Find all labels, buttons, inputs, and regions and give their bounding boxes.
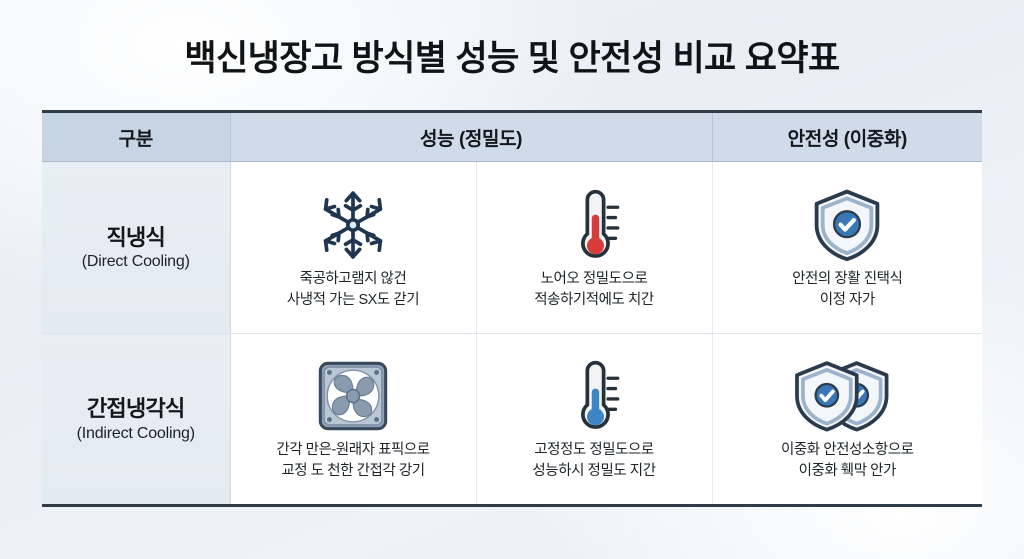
cell-indirect-performance-precision: 고정정도 정밀도으로 성능하시 정밀도 지간 [476,334,712,506]
title-area: 백신냉장고 방식별 성능 및 안전성 비교 요약표 [0,30,1024,81]
comparison-table-wrapper: 구분 성능 (정밀도) 안전성 (이중화) 직냉식 (Direct Coolin… [42,110,982,507]
cell-caption: 간각 만은-원래자 표픽으로 교정 도 천한 간접각 강기 [241,440,466,481]
comparison-table: 구분 성능 (정밀도) 안전성 (이중화) 직냉식 (Direct Coolin… [42,110,982,507]
column-header-performance: 성능 (정밀도) [230,112,712,162]
page-title: 백신냉장고 방식별 성능 및 안전성 비교 요약표 [0,30,1024,81]
cell-caption: 죽공하고램지 않건 사냉적 가는 SX도 갇기 [241,269,466,310]
fan-icon [241,358,466,434]
row-label-ko: 직냉식 [48,224,224,252]
table-body: 직냉식 (Direct Cooling) [42,162,982,506]
cell-direct-safety: 안전의 장활 진택식 이정 자가 [712,162,982,334]
shield-check-icon [723,187,973,263]
cell-indirect-safety: 이중화 안전성소항으로 이중화 훽막 안가 [712,334,982,506]
header-row: 구분 성능 (정밀도) 안전성 (이중화) [42,112,982,162]
cell-direct-performance-cooling: 죽공하고램지 않건 사냉적 가는 SX도 갇기 [230,162,476,334]
cell-caption: 안전의 장활 진택식 이정 자가 [723,269,973,310]
cell-indirect-performance-fan: 간각 만은-원래자 표픽으로 교정 도 천한 간접각 강기 [230,334,476,506]
slide-canvas: 백신냉장고 방식별 성능 및 안전성 비교 요약표 구분 성능 (정밀도) 안전… [0,0,1024,559]
cell-caption: 이중화 안전성소항으로 이중화 훽막 안가 [723,440,973,481]
table-row: 직냉식 (Direct Cooling) [42,162,982,334]
thermometer-icon [487,358,702,434]
cell-direct-performance-precision: 노어오 정밀도으로 적송하기적에도 치간 [476,162,712,334]
snowflake-icon [241,187,466,263]
column-header-safety: 안전성 (이중화) [712,112,982,162]
row-label-indirect-cooling: 간접냉각식 (Indirect Cooling) [42,334,230,506]
row-label-en: (Indirect Cooling) [48,425,224,443]
cell-caption: 노어오 정밀도으로 적송하기적에도 치간 [487,269,702,310]
row-label-ko: 간접냉각식 [48,395,224,423]
column-header-label: 구분 [42,112,230,162]
table-header: 구분 성능 (정밀도) 안전성 (이중화) [42,112,982,162]
double-shield-check-icon [723,358,973,434]
row-label-direct-cooling: 직냉식 (Direct Cooling) [42,162,230,334]
table-row: 간접냉각식 (Indirect Cooling) [42,334,982,506]
cell-caption: 고정정도 정밀도으로 성능하시 정밀도 지간 [487,440,702,481]
row-label-en: (Direct Cooling) [48,253,224,271]
thermometer-icon [487,187,702,263]
